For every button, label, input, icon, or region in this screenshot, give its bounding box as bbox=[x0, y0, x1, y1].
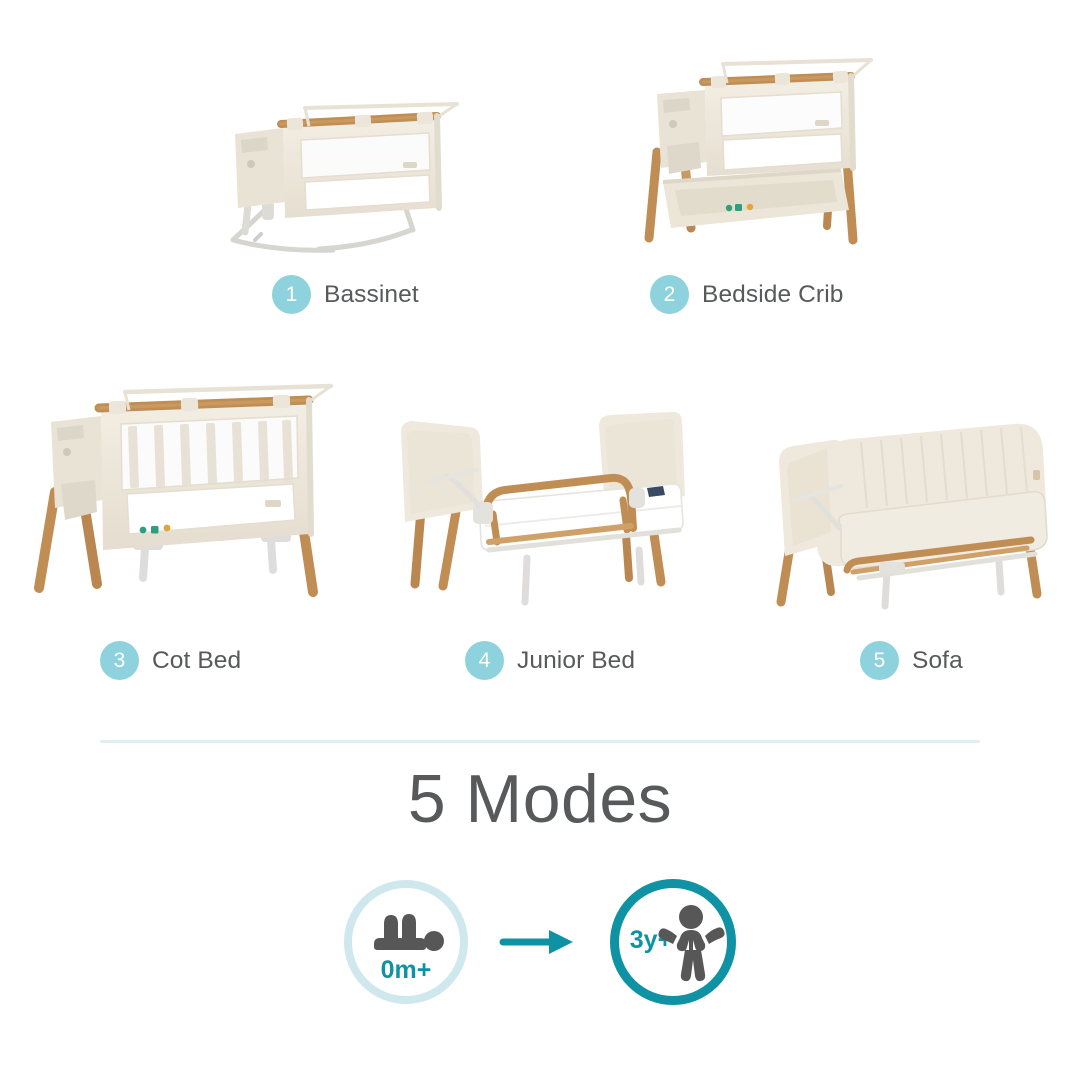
product-image-junior-bed bbox=[385, 410, 695, 615]
mode-number-badge-3: 3 bbox=[100, 641, 139, 680]
mode-number-badge-5: 5 bbox=[860, 641, 899, 680]
mode-name-5: Sofa bbox=[912, 647, 963, 675]
mode-name-2: Bedside Crib bbox=[702, 281, 843, 309]
mode-label-2: 2 Bedside Crib bbox=[650, 275, 843, 314]
mode-number-badge-2: 2 bbox=[650, 275, 689, 314]
mode-number-badge-1: 1 bbox=[272, 275, 311, 314]
age-start-value: 0m+ bbox=[381, 956, 432, 984]
age-badge-start: 0m+ bbox=[344, 880, 468, 1004]
arrow-right-icon bbox=[499, 926, 579, 958]
crawling-baby-icon bbox=[374, 914, 444, 951]
mode-number-badge-4: 4 bbox=[465, 641, 504, 680]
product-image-sofa bbox=[755, 420, 1055, 620]
section-divider bbox=[100, 740, 980, 743]
mode-label-5: 5 Sofa bbox=[860, 641, 963, 680]
product-image-cot-bed bbox=[25, 380, 335, 615]
page-title: 5 Modes bbox=[0, 762, 1080, 837]
mode-label-1: 1 Bassinet bbox=[272, 275, 419, 314]
age-badge-end: 3y+ bbox=[610, 879, 736, 1005]
age-progress-arrow bbox=[494, 922, 584, 962]
mode-label-3: 3 Cot Bed bbox=[100, 641, 241, 680]
mode-label-4: 4 Junior Bed bbox=[465, 641, 635, 680]
product-image-bedside-crib bbox=[635, 50, 875, 275]
mode-name-4: Junior Bed bbox=[517, 647, 635, 675]
infographic-canvas: 1 Bassinet bbox=[0, 0, 1080, 1080]
product-image-bassinet bbox=[205, 90, 465, 265]
mode-name-1: Bassinet bbox=[324, 281, 419, 309]
age-range-row: 0m+ 3y+ bbox=[0, 876, 1080, 1008]
mode-name-3: Cot Bed bbox=[152, 647, 241, 675]
